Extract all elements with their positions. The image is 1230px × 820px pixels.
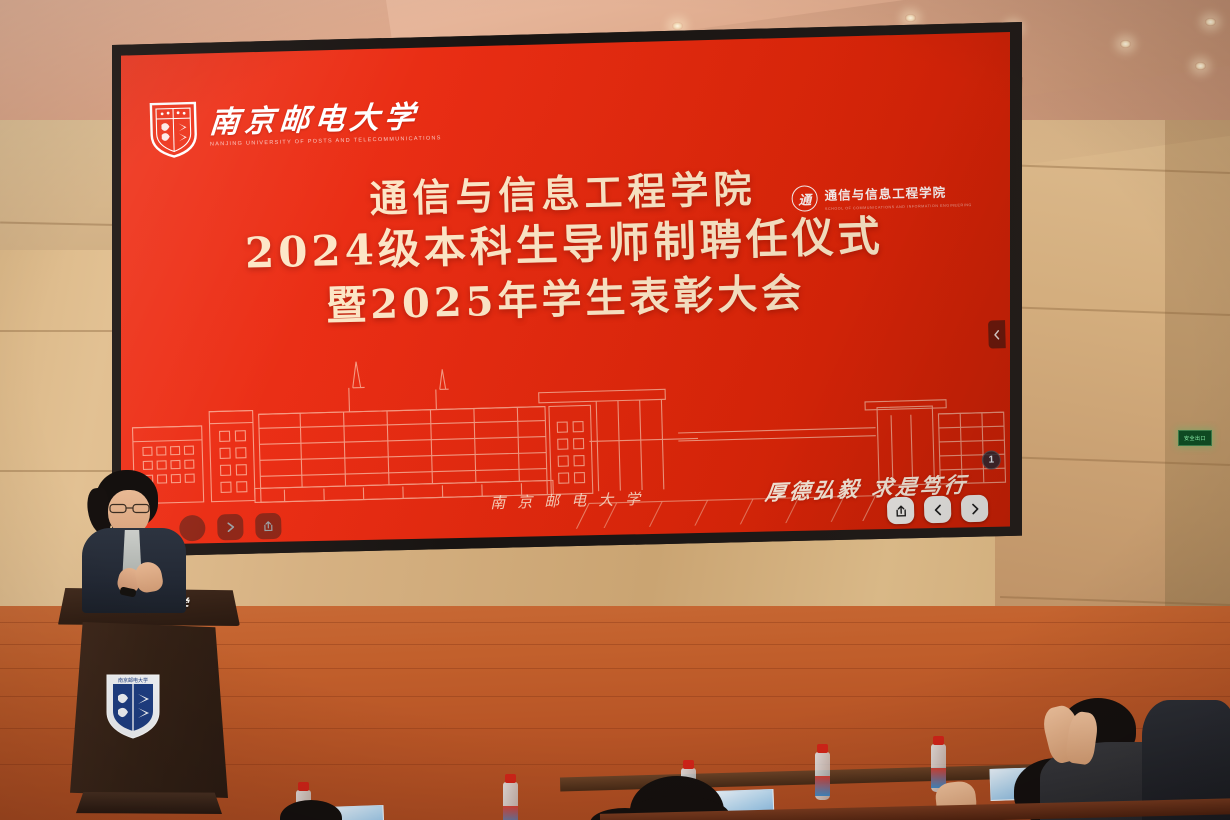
overlay-controls-left bbox=[179, 513, 282, 542]
led-display-screen: 南京邮电大学 NANJING UNIVERSITY OF POSTS AND T… bbox=[112, 22, 1022, 557]
emergency-exit-sign: 安全出口 bbox=[1178, 430, 1212, 446]
speaker-person bbox=[78, 470, 190, 610]
eyeglasses-icon bbox=[108, 503, 152, 514]
university-name-cn: 南京邮电大学 bbox=[208, 103, 442, 139]
bottle-cap bbox=[505, 774, 516, 783]
water-bottle bbox=[503, 782, 518, 820]
share-icon bbox=[262, 520, 274, 532]
bottle-cap bbox=[683, 760, 694, 769]
university-logo-lockup: 南京邮电大学 NANJING UNIVERSITY OF POSTS AND T… bbox=[148, 93, 442, 159]
ceiling-downlight bbox=[1205, 18, 1216, 26]
campus-artwork-caption: 南京邮电大学 bbox=[490, 488, 653, 513]
ceiling-downlight bbox=[672, 22, 683, 30]
slide-content: 南京邮电大学 NANJING UNIVERSITY OF POSTS AND T… bbox=[121, 32, 1010, 545]
lectern-podium: 南京邮电大学 南京邮电大学 bbox=[58, 588, 240, 820]
presentation-controls bbox=[887, 495, 989, 525]
chevron-right-icon bbox=[967, 501, 981, 515]
ceiling-downlight bbox=[905, 14, 916, 22]
chevron-left-icon bbox=[930, 502, 944, 516]
svg-text:南京邮电大学: 南京邮电大学 bbox=[118, 677, 148, 684]
share-icon bbox=[893, 503, 907, 517]
sidebar-collapse-tab[interactable] bbox=[988, 320, 1006, 348]
podium-base bbox=[76, 792, 222, 814]
bottle-cap bbox=[298, 782, 309, 791]
water-bottle bbox=[815, 752, 830, 800]
bottle-label bbox=[815, 776, 830, 796]
bottle-label bbox=[503, 806, 518, 820]
share-button-secondary[interactable] bbox=[255, 513, 282, 540]
njupt-crest-icon: 南京邮电大学 bbox=[104, 672, 162, 740]
exit-sign-label: 安全出口 bbox=[1184, 435, 1206, 442]
university-name-block: 南京邮电大学 NANJING UNIVERSITY OF POSTS AND T… bbox=[209, 103, 442, 149]
bottle-cap bbox=[817, 744, 828, 753]
njupt-crest-icon bbox=[148, 100, 200, 159]
next-slide-button[interactable] bbox=[961, 495, 989, 523]
chevron-right-icon bbox=[224, 521, 236, 533]
previous-slide-button[interactable] bbox=[924, 496, 952, 524]
play-button[interactable] bbox=[217, 514, 244, 541]
share-button[interactable] bbox=[887, 497, 915, 525]
screen-surface: 南京邮电大学 NANJING UNIVERSITY OF POSTS AND T… bbox=[121, 32, 1010, 545]
slide-title-block: 通信与信息工程学院 2024级本科生导师制聘任仪式 暨2025年学生表彰大会 bbox=[121, 158, 1010, 337]
ceiling-downlight bbox=[1120, 40, 1131, 48]
photo-scene: 安全出口 bbox=[0, 0, 1230, 820]
bottle-cap bbox=[933, 736, 944, 745]
chevron-left-icon bbox=[992, 329, 1001, 340]
ceiling-downlight bbox=[1195, 62, 1206, 70]
wall-seam bbox=[0, 330, 130, 332]
